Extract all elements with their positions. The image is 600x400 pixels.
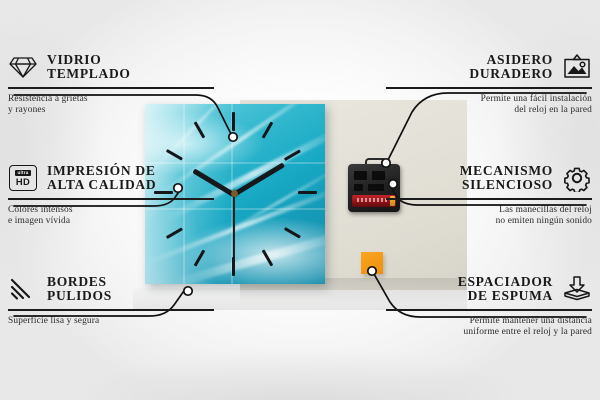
feature-desc-line1: Permite mantener una distancia [470, 316, 592, 326]
feature-description: Superficie lisa y segura [8, 316, 214, 327]
feature-desc-line2: uniforme entre el reloj y la pared [464, 327, 592, 337]
feature-impresion-alta-calidad: ultra HD IMPRESIÓN DE ALTA CALIDAD Color… [8, 163, 214, 227]
hd-badge-top: ultra [15, 170, 31, 176]
feature-desc-line1: Las manecillas del reloj [499, 205, 592, 215]
feature-desc-line1: Permite una fácil instalación [481, 94, 592, 104]
arrow-into-pad-icon [562, 274, 592, 304]
feature-description: Permite mantener una distancia uniforme … [386, 316, 592, 339]
feature-description: Colores intensos e imagen vívida [8, 205, 214, 228]
feature-divider [8, 198, 214, 200]
feature-desc-line2: y rayones [8, 105, 46, 115]
feature-title: MECANISMO SILENCIOSO [386, 164, 553, 193]
ultra-hd-badge-icon: ultra HD [8, 163, 38, 193]
feature-title: ASIDERO DURADERO [386, 53, 553, 82]
feature-divider [386, 198, 592, 200]
mechanism-detail [354, 171, 367, 180]
foam-spacer [361, 252, 383, 274]
feature-desc-line2: del reloj en la pared [514, 105, 592, 115]
feature-title-line2: DURADERO [469, 66, 553, 81]
feature-title-line1: ASIDERO [487, 52, 553, 67]
hd-badge-main: HD [16, 177, 30, 186]
feature-title-line2: PULIDOS [47, 288, 112, 303]
clock-tick [298, 191, 317, 194]
mechanism-detail [368, 184, 384, 191]
mechanism-detail [354, 184, 363, 191]
feature-title: IMPRESIÓN DE ALTA CALIDAD [47, 164, 214, 193]
feature-description: Permite una fácil instalación del reloj … [386, 94, 592, 117]
feature-desc-line2: no emiten ningún sonido [496, 216, 592, 226]
feature-title: VIDRIO TEMPLADO [47, 53, 214, 82]
feature-espaciador-de-espuma: ESPACIADOR DE ESPUMA Permite mantener un… [386, 274, 592, 338]
feature-title-line2: TEMPLADO [47, 66, 131, 81]
feature-divider [8, 309, 214, 311]
feature-divider [386, 87, 592, 89]
polished-edges-icon [8, 274, 38, 304]
feature-mecanismo-silencioso: MECANISMO SILENCIOSO Las manecillas del … [386, 163, 592, 227]
diamond-icon [8, 52, 38, 82]
feature-desc-line1: Colores intensos [8, 205, 73, 215]
mechanism-detail [372, 171, 385, 180]
feature-bordes-pulidos: BORDES PULIDOS Superficie lisa y segura [8, 274, 214, 327]
framed-picture-hanger-icon [562, 52, 592, 82]
clock-tick [232, 112, 235, 131]
feature-title-line2: DE ESPUMA [468, 288, 553, 303]
feature-title: BORDES PULIDOS [47, 275, 214, 304]
feature-divider [8, 87, 214, 89]
feature-title-line1: MECANISMO [460, 163, 553, 178]
feature-title-line1: VIDRIO [47, 52, 101, 67]
feature-title-line2: ALTA CALIDAD [47, 177, 156, 192]
feature-divider [386, 309, 592, 311]
clock-hand-second [233, 193, 235, 265]
feature-desc-line1: Resistencia a grietas [8, 94, 88, 104]
feature-title-line1: ESPACIADOR [458, 274, 553, 289]
feature-desc-line1: Superficie lisa y segura [8, 316, 99, 326]
clock-center-pin [231, 190, 238, 197]
infographic-canvas: VIDRIO TEMPLADO Resistencia a grietas y … [0, 0, 600, 400]
feature-title: ESPACIADOR DE ESPUMA [386, 275, 553, 304]
battery-label [357, 198, 387, 202]
gear-icon [562, 163, 592, 193]
feature-description: Resistencia a grietas y rayones [8, 94, 214, 117]
feature-desc-line2: e imagen vívida [8, 216, 70, 226]
feature-asidero-duradero: ASIDERO DURADERO Permite una fácil insta… [386, 52, 592, 116]
feature-title-line1: BORDES [47, 274, 107, 289]
feature-description: Las manecillas del reloj no emiten ningú… [386, 205, 592, 228]
feature-vidrio-templado: VIDRIO TEMPLADO Resistencia a grietas y … [8, 52, 214, 116]
feature-title-line2: SILENCIOSO [462, 177, 553, 192]
feature-title-line1: IMPRESIÓN DE [47, 163, 156, 178]
clock-tick [284, 227, 301, 238]
